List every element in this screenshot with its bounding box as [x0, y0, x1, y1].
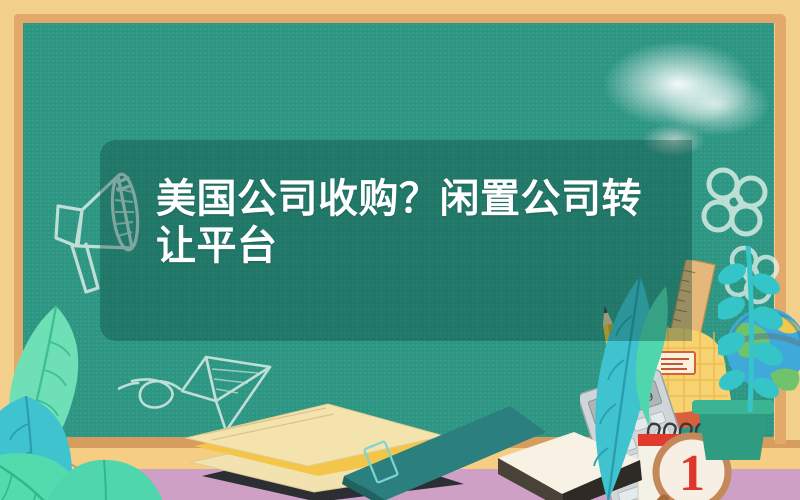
- flower-icon-large: [690, 160, 780, 250]
- page-title: 美国公司收购？闲置公司转让平台: [156, 176, 676, 270]
- plant-leaves-floor: [46, 446, 166, 500]
- plant-sprig-right: [718, 246, 788, 416]
- banner-canvas: 69 1: [0, 0, 800, 500]
